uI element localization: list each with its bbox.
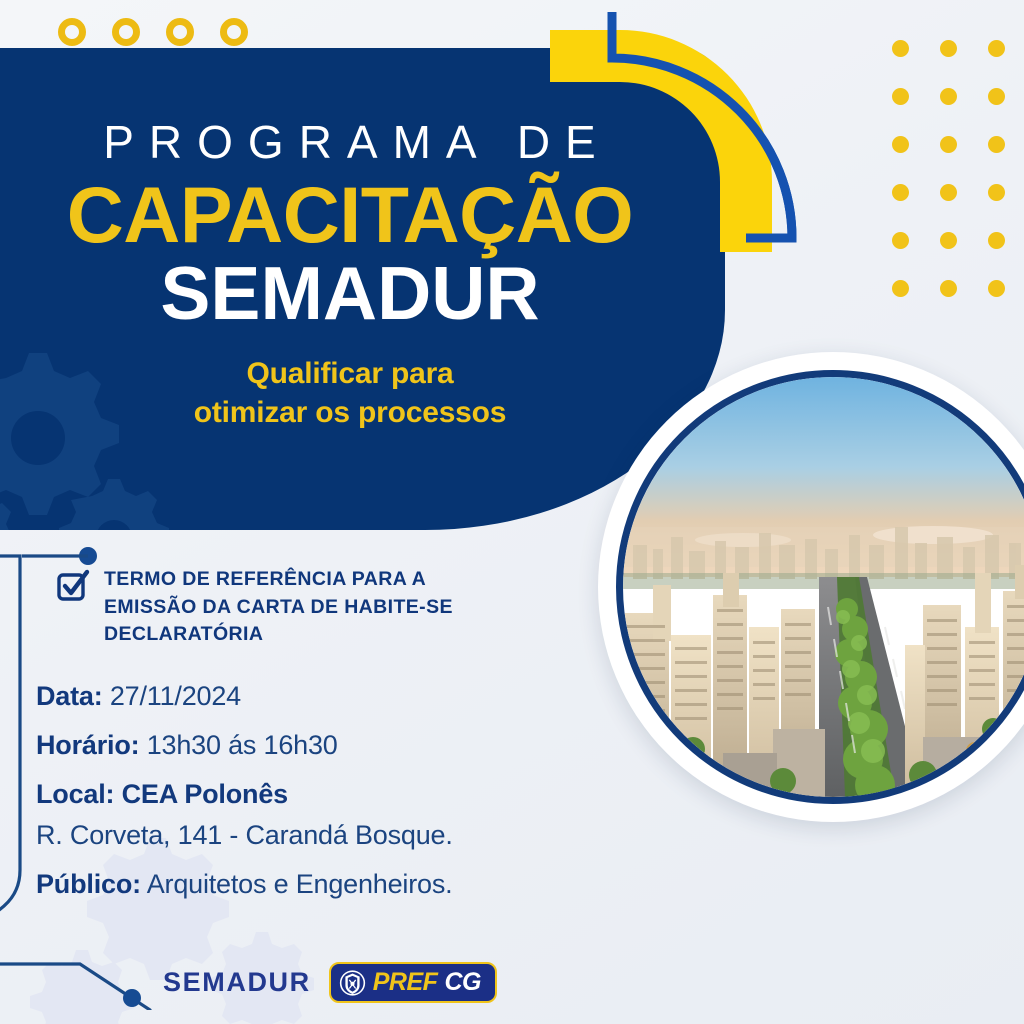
- grid-dot-icon: [988, 136, 1005, 153]
- poster-root: PROGRAMA DE CAPACITAÇÃO SEMADUR Qualific…: [0, 0, 1024, 1024]
- footer-logos: SEMADUR PREF CG: [0, 962, 660, 1003]
- info-title: TERMO DE REFERÊNCIA PARA A EMISSÃO DA CA…: [104, 566, 453, 649]
- prefcg-logo: PREF CG: [329, 962, 497, 1003]
- info-row-publico: Público: Arquitetos e Engenheiros.: [36, 871, 554, 898]
- info-row-endereco: R. Corveta, 141 - Carandá Bosque.: [36, 822, 554, 849]
- ring-circle-icon: [58, 18, 86, 46]
- grid-dot-icon: [940, 280, 957, 297]
- coat-of-arms-icon: [339, 968, 366, 998]
- headline-line-semadur: SEMADUR: [0, 254, 700, 334]
- headline-subtitle: Qualificar para otimizar os processos: [0, 355, 700, 432]
- info-header: TERMO DE REFERÊNCIA PARA A EMISSÃO DA CA…: [56, 566, 554, 649]
- grid-dot-icon: [988, 280, 1005, 297]
- info-label-horario: Horário:: [36, 730, 139, 760]
- grid-dot-icon: [892, 232, 909, 249]
- grid-dot-icon: [940, 136, 957, 153]
- info-label-publico: Público:: [36, 869, 141, 899]
- info-value-endereco: R. Corveta, 141 - Carandá Bosque.: [36, 820, 453, 850]
- grid-dot-icon: [892, 136, 909, 153]
- grid-dot-icon: [892, 280, 909, 297]
- headline-subtitle-line1: Qualificar para: [0, 355, 700, 393]
- headline-block: PROGRAMA DE CAPACITAÇÃO SEMADUR Qualific…: [0, 118, 700, 432]
- grid-dot-icon: [988, 184, 1005, 201]
- grid-dot-icon: [940, 184, 957, 201]
- grid-dot-icon: [988, 232, 1005, 249]
- info-label-local: Local:: [36, 779, 114, 809]
- info-title-line-2: EMISSÃO DA CARTA DE HABITE-SE: [104, 594, 453, 622]
- info-block: TERMO DE REFERÊNCIA PARA A EMISSÃO DA CA…: [34, 566, 554, 920]
- aerial-cityscape-photo: [623, 377, 1024, 797]
- grid-dot-icon: [892, 40, 909, 57]
- info-title-line-3: DECLARATÓRIA: [104, 621, 453, 649]
- info-value-horario: 13h30 ás 16h30: [147, 730, 338, 760]
- info-row-horario: Horário: 13h30 ás 16h30: [36, 732, 554, 759]
- grid-dot-icon: [988, 40, 1005, 57]
- ring-circle-icon: [112, 18, 140, 46]
- semadur-wordmark: SEMADUR: [163, 967, 311, 998]
- prefcg-pref-text: PREF: [373, 968, 438, 997]
- ring-circle-icon: [220, 18, 248, 46]
- info-row-local: Local: CEA Polonês: [36, 781, 554, 808]
- grid-dot-icon: [988, 88, 1005, 105]
- grid-dot-icon: [892, 88, 909, 105]
- ring-circle-icon: [166, 18, 194, 46]
- photo-ring-border: [616, 370, 1024, 804]
- info-value-local: CEA Polonês: [122, 779, 288, 809]
- headline-subtitle-line2: otimizar os processos: [0, 394, 700, 432]
- headline-line-programa: PROGRAMA DE: [0, 118, 700, 166]
- checkbox-checked-icon: [56, 568, 90, 602]
- info-label-data: Data:: [36, 681, 103, 711]
- dot-grid-decoration: [892, 40, 1024, 328]
- headline-line-capacitacao: CAPACITAÇÃO: [0, 172, 700, 257]
- info-value-publico: Arquitetos e Engenheiros.: [147, 869, 453, 899]
- ring-decoration-row: [58, 18, 248, 46]
- info-row-data: Data: 27/11/2024: [36, 683, 554, 710]
- info-title-line-1: TERMO DE REFERÊNCIA PARA A: [104, 566, 453, 594]
- info-value-data: 27/11/2024: [110, 681, 241, 711]
- grid-dot-icon: [892, 184, 909, 201]
- info-detail-list: Data: 27/11/2024 Horário: 13h30 ás 16h30…: [36, 683, 554, 898]
- prefcg-cg-text: CG: [444, 968, 481, 997]
- grid-dot-icon: [940, 88, 957, 105]
- grid-dot-icon: [940, 40, 957, 57]
- grid-dot-icon: [940, 232, 957, 249]
